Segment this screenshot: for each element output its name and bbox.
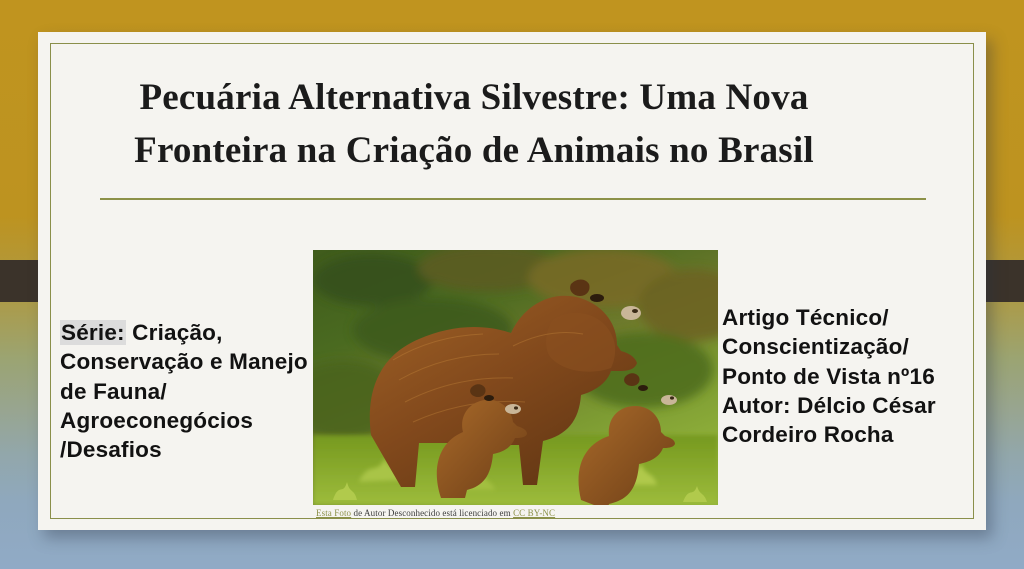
photo-caption: Esta Foto de Autor Desconhecido está lic… [316,508,555,518]
capybara-illustration [313,250,718,505]
series-text-block: Série: Criação, Conservação e Manejo de … [60,318,308,464]
capybara-photo [313,250,718,505]
page-title: Pecuária Alternativa Silvestre: Uma Nova… [60,72,888,177]
series-label: Série: [60,320,126,345]
caption-photo-link[interactable]: Esta Foto [316,508,351,518]
caption-middle-text: de Autor Desconhecido está licenciado em [351,508,513,518]
title-divider-rule [100,198,926,200]
article-info-text-block: Artigo Técnico/ Conscientização/ Ponto d… [722,303,974,449]
caption-license-link[interactable]: CC BY-NC [513,508,555,518]
slide-canvas: Pecuária Alternativa Silvestre: Uma Nova… [0,0,1024,569]
